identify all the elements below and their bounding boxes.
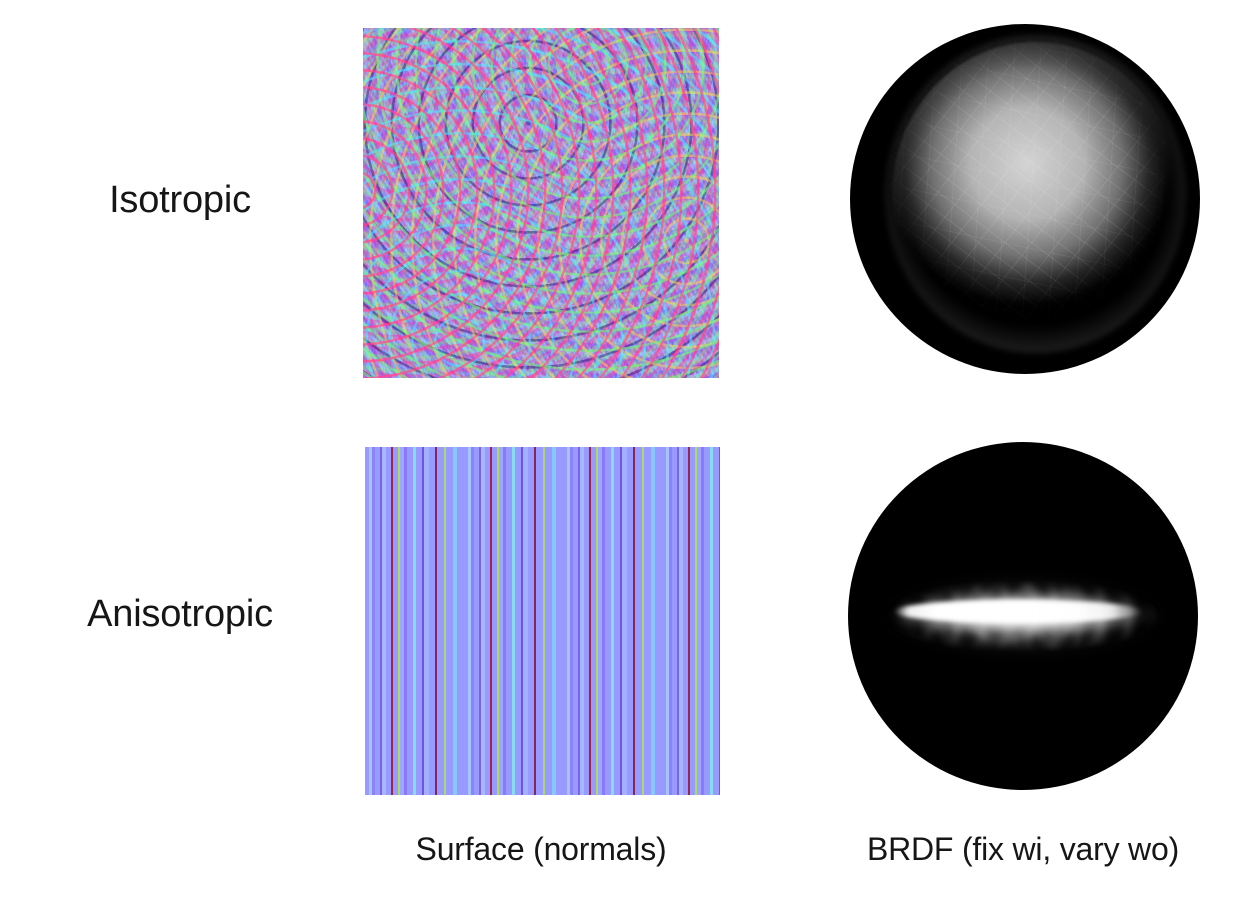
- column-caption-surface: Surface (normals): [363, 833, 719, 865]
- figure-root: Isotropic Anisotropic Surface (normals) …: [0, 0, 1244, 904]
- anisotropic-brdf-lobe-core: [894, 600, 1143, 623]
- isotropic-brdf-lobe-rim: [885, 35, 1186, 354]
- isotropic-surface-normal-map-image: [363, 28, 719, 378]
- anisotropic-surface-normal-map-image: [365, 447, 720, 795]
- anisotropic-brdf-lobe-image: [848, 442, 1198, 790]
- row-label-anisotropic: Anisotropic: [0, 595, 360, 633]
- column-caption-brdf: BRDF (fix wi, vary wo): [845, 833, 1201, 865]
- isotropic-brdf-lobe-image: [850, 24, 1200, 374]
- row-label-isotropic: Isotropic: [0, 181, 360, 219]
